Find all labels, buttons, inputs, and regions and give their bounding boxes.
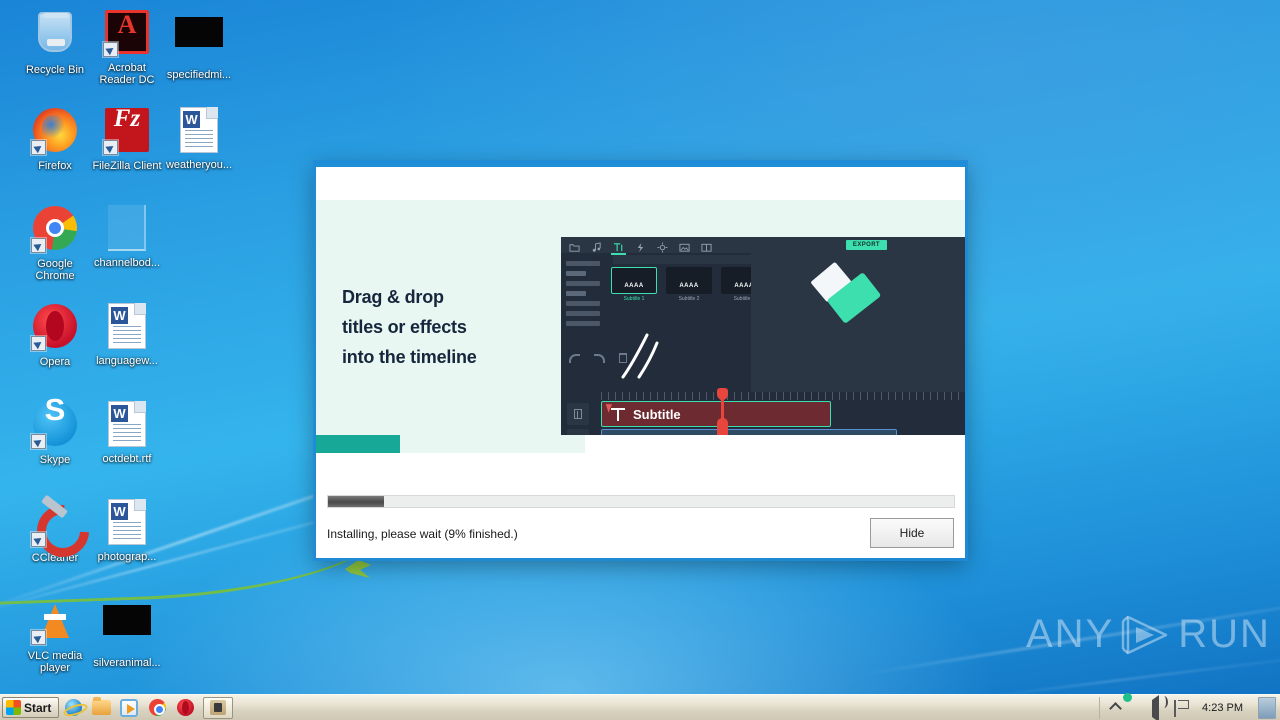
sidebar-placeholder-item[interactable] bbox=[566, 321, 600, 326]
subtitle-thumbnail-preview[interactable]: AAAA bbox=[611, 267, 657, 294]
desktop-icon-grid: Recycle BinAcrobat Reader DCspecifiedmi.… bbox=[0, 0, 230, 690]
show-desktop-button[interactable] bbox=[1258, 697, 1276, 719]
desktop-icon-languagew[interactable]: languagew... bbox=[90, 302, 164, 367]
taskbar-windows-explorer-icon[interactable] bbox=[87, 697, 115, 719]
desktop-icon-google-chrome[interactable]: Google Chrome bbox=[18, 204, 92, 282]
windows-logo-icon bbox=[6, 700, 21, 715]
desktop-icon-label: Google Chrome bbox=[18, 258, 92, 282]
taskbar-setup-window-button[interactable] bbox=[203, 697, 233, 719]
desktop-icon-filezilla-client[interactable]: FileZilla Client bbox=[90, 106, 164, 172]
word-icon bbox=[103, 401, 151, 449]
desktop-icon-octdebt-rtf[interactable]: octdebt.rtf bbox=[90, 400, 164, 465]
delete-icon[interactable] bbox=[619, 353, 627, 363]
music-note-icon[interactable] bbox=[591, 240, 602, 251]
chrome-icon bbox=[31, 206, 79, 254]
shortcut-overlay-icon bbox=[31, 336, 46, 351]
subtitle-preview-text: AAAA bbox=[624, 283, 643, 289]
video-editor-mockup: EXPORT AAAA bbox=[561, 237, 965, 453]
redo-icon[interactable] bbox=[594, 354, 605, 363]
tray-action-center-flag-icon[interactable] bbox=[1174, 700, 1189, 715]
shortcut-overlay-icon bbox=[31, 532, 46, 547]
word-icon bbox=[103, 303, 151, 351]
desktop-icon-label: languagew... bbox=[90, 355, 164, 367]
desktop-icon-acrobat-reader-dc[interactable]: Acrobat Reader DC bbox=[90, 8, 164, 86]
editor-toolbar: EXPORT bbox=[561, 237, 965, 253]
subtitle-thumbnail-list[interactable]: AAAA Subtitle 1 AAAA Subtitle 2 AAAA bbox=[611, 267, 767, 302]
subtitle-preview-text: AAAA bbox=[679, 283, 698, 289]
text-title-icon[interactable] bbox=[613, 240, 624, 251]
shortcut-overlay-icon bbox=[31, 140, 46, 155]
word-icon bbox=[103, 499, 151, 547]
timeline-ruler bbox=[601, 392, 965, 400]
sea-color-strip bbox=[316, 435, 965, 453]
desktop-icon-label: specifiedmi... bbox=[162, 69, 236, 81]
sidebar-placeholder-item[interactable] bbox=[566, 261, 600, 266]
split-screen-icon[interactable] bbox=[701, 240, 712, 251]
cursor-arrow-icon bbox=[606, 402, 614, 412]
sidebar-placeholder-item[interactable] bbox=[566, 311, 600, 316]
editor-category-sidebar[interactable] bbox=[566, 261, 600, 326]
shortcut-overlay-icon bbox=[103, 140, 118, 155]
subtitle-thumbnail-label: Subtitle 2 bbox=[666, 296, 712, 302]
skype-icon bbox=[31, 402, 79, 450]
promo-banner: Drag & drop titles or effects into the t… bbox=[316, 200, 965, 453]
promo-line-2: titles or effects bbox=[342, 312, 477, 342]
window-header-blank bbox=[316, 167, 965, 200]
taskbar[interactable]: Start 4:23 PM bbox=[0, 694, 1280, 720]
desktop-icon-label: photograp... bbox=[90, 551, 164, 563]
promo-heading: Drag & drop titles or effects into the t… bbox=[316, 282, 477, 372]
taskbar-chrome-icon[interactable] bbox=[143, 697, 171, 719]
shortcut-overlay-icon bbox=[31, 238, 46, 253]
shortcut-overlay-icon bbox=[31, 434, 46, 449]
shortcut-overlay-icon bbox=[103, 42, 118, 57]
desktop-icon-channelbod[interactable]: channelbod... bbox=[90, 204, 164, 269]
black-icon bbox=[175, 17, 223, 65]
sidebar-placeholder-item[interactable] bbox=[566, 281, 600, 286]
start-button-label: Start bbox=[24, 701, 51, 715]
desktop-icon-label: channelbod... bbox=[90, 257, 164, 269]
recycle-icon bbox=[31, 12, 79, 60]
system-tray[interactable]: 4:23 PM bbox=[1099, 697, 1280, 719]
anyrun-play-logo-icon bbox=[1120, 613, 1172, 657]
subtitle-thumbnail-label: Subtitle 1 bbox=[611, 296, 657, 302]
desktop-icon-opera[interactable]: Opera bbox=[18, 302, 92, 368]
adjust-icon[interactable] bbox=[657, 240, 668, 251]
subtitle-thumbnail-1[interactable]: AAAA Subtitle 1 bbox=[611, 267, 657, 302]
taskbar-media-player-icon[interactable] bbox=[115, 697, 143, 719]
promo-line-1: Drag & drop bbox=[342, 282, 477, 312]
opera-icon bbox=[31, 304, 79, 352]
installer-window[interactable]: Drag & drop titles or effects into the t… bbox=[315, 162, 966, 559]
sidebar-placeholder-item[interactable] bbox=[566, 301, 600, 306]
desktop-icon-vlc-media-player[interactable]: VLC media player bbox=[18, 596, 92, 674]
blankdoc-icon bbox=[103, 205, 151, 253]
hide-button[interactable]: Hide bbox=[870, 518, 954, 548]
progress-bar bbox=[327, 495, 955, 508]
watermark-text-right: RUN bbox=[1178, 612, 1271, 657]
desktop-icon-label: Opera bbox=[18, 356, 92, 368]
taskbar-opera-icon[interactable] bbox=[171, 697, 199, 719]
desktop-icon-label: Recycle Bin bbox=[18, 64, 92, 76]
progress-bar-fill bbox=[328, 496, 384, 507]
desktop-icon-label: weatheryou... bbox=[162, 159, 236, 171]
acrobat-icon bbox=[103, 10, 151, 58]
editor-tool-row bbox=[569, 353, 627, 363]
subtitle-clip[interactable]: Subtitle bbox=[601, 401, 831, 427]
taskbar-clock[interactable]: 4:23 PM bbox=[1196, 702, 1249, 714]
desktop-icon-label: silveranimal... bbox=[90, 657, 164, 669]
desktop-icon-photograp[interactable]: photograp... bbox=[90, 498, 164, 563]
desktop-icon-label: Firefox bbox=[18, 160, 92, 172]
tray-network-icon[interactable] bbox=[1130, 700, 1145, 715]
desktop-icon-specifiedmi[interactable]: specifiedmi... bbox=[162, 8, 236, 81]
wallpaper-streak bbox=[863, 599, 1280, 675]
promo-banner-left: Drag & drop titles or effects into the t… bbox=[316, 200, 534, 453]
shortcut-overlay-icon bbox=[31, 630, 46, 645]
desktop[interactable]: Recycle BinAcrobat Reader DCspecifiedmi.… bbox=[0, 0, 1280, 720]
desktop-icon-weatheryou[interactable]: weatheryou... bbox=[162, 106, 236, 171]
subtitle-clip-label: Subtitle bbox=[633, 407, 681, 422]
wallpaper-streak bbox=[981, 656, 1280, 698]
firefox-icon bbox=[31, 108, 79, 156]
ccleaner-icon bbox=[31, 500, 79, 548]
installer-progress-area: Installing, please wait (9% finished.) H… bbox=[316, 453, 965, 558]
subtitle-thumbnail-2[interactable]: AAAA Subtitle 2 bbox=[666, 267, 712, 302]
sidebar-placeholder-item[interactable] bbox=[566, 271, 586, 276]
word-icon bbox=[175, 107, 223, 155]
desktop-icon-label: FileZilla Client bbox=[90, 160, 164, 172]
start-button[interactable]: Start bbox=[2, 697, 59, 718]
subtitle-thumbnail-preview[interactable]: AAAA bbox=[666, 267, 712, 294]
image-icon[interactable] bbox=[679, 240, 690, 251]
text-tool-icon bbox=[610, 406, 626, 422]
effects-icon[interactable] bbox=[635, 240, 646, 251]
tray-volume-icon[interactable] bbox=[1152, 700, 1167, 715]
wallpaper-leaf bbox=[345, 560, 371, 578]
taskbar-internet-explorer-icon[interactable] bbox=[59, 697, 87, 719]
sidebar-placeholder-item[interactable] bbox=[566, 291, 586, 296]
undo-icon[interactable] bbox=[569, 354, 580, 363]
black-icon bbox=[103, 605, 151, 653]
subtitle-track-header[interactable] bbox=[567, 403, 589, 425]
desktop-icon-label: Acrobat Reader DC bbox=[90, 62, 164, 86]
status-text: Installing, please wait (9% finished.) bbox=[327, 527, 518, 541]
promo-line-3: into the timeline bbox=[342, 342, 477, 372]
export-button[interactable]: EXPORT bbox=[846, 240, 887, 250]
desktop-icon-firefox[interactable]: Firefox bbox=[18, 106, 92, 172]
desktop-icon-skype[interactable]: Skype bbox=[18, 400, 92, 466]
anyrun-watermark: ANY RUN bbox=[1026, 612, 1271, 657]
desktop-icon-label: Skype bbox=[18, 454, 92, 466]
filezilla-icon bbox=[103, 108, 151, 156]
desktop-icon-label: octdebt.rtf bbox=[90, 453, 164, 465]
desktop-icon-silveranimal[interactable]: silveranimal... bbox=[90, 596, 164, 669]
desktop-icon-recycle-bin[interactable]: Recycle Bin bbox=[18, 8, 92, 76]
watermark-text-left: ANY bbox=[1026, 612, 1114, 657]
tray-show-hidden-icon[interactable] bbox=[1108, 700, 1123, 715]
desktop-icon-ccleaner[interactable]: CCleaner bbox=[18, 498, 92, 564]
desktop-icon-label: VLC media player bbox=[18, 650, 92, 674]
vlc-icon bbox=[31, 598, 79, 646]
folder-icon[interactable] bbox=[569, 240, 580, 251]
